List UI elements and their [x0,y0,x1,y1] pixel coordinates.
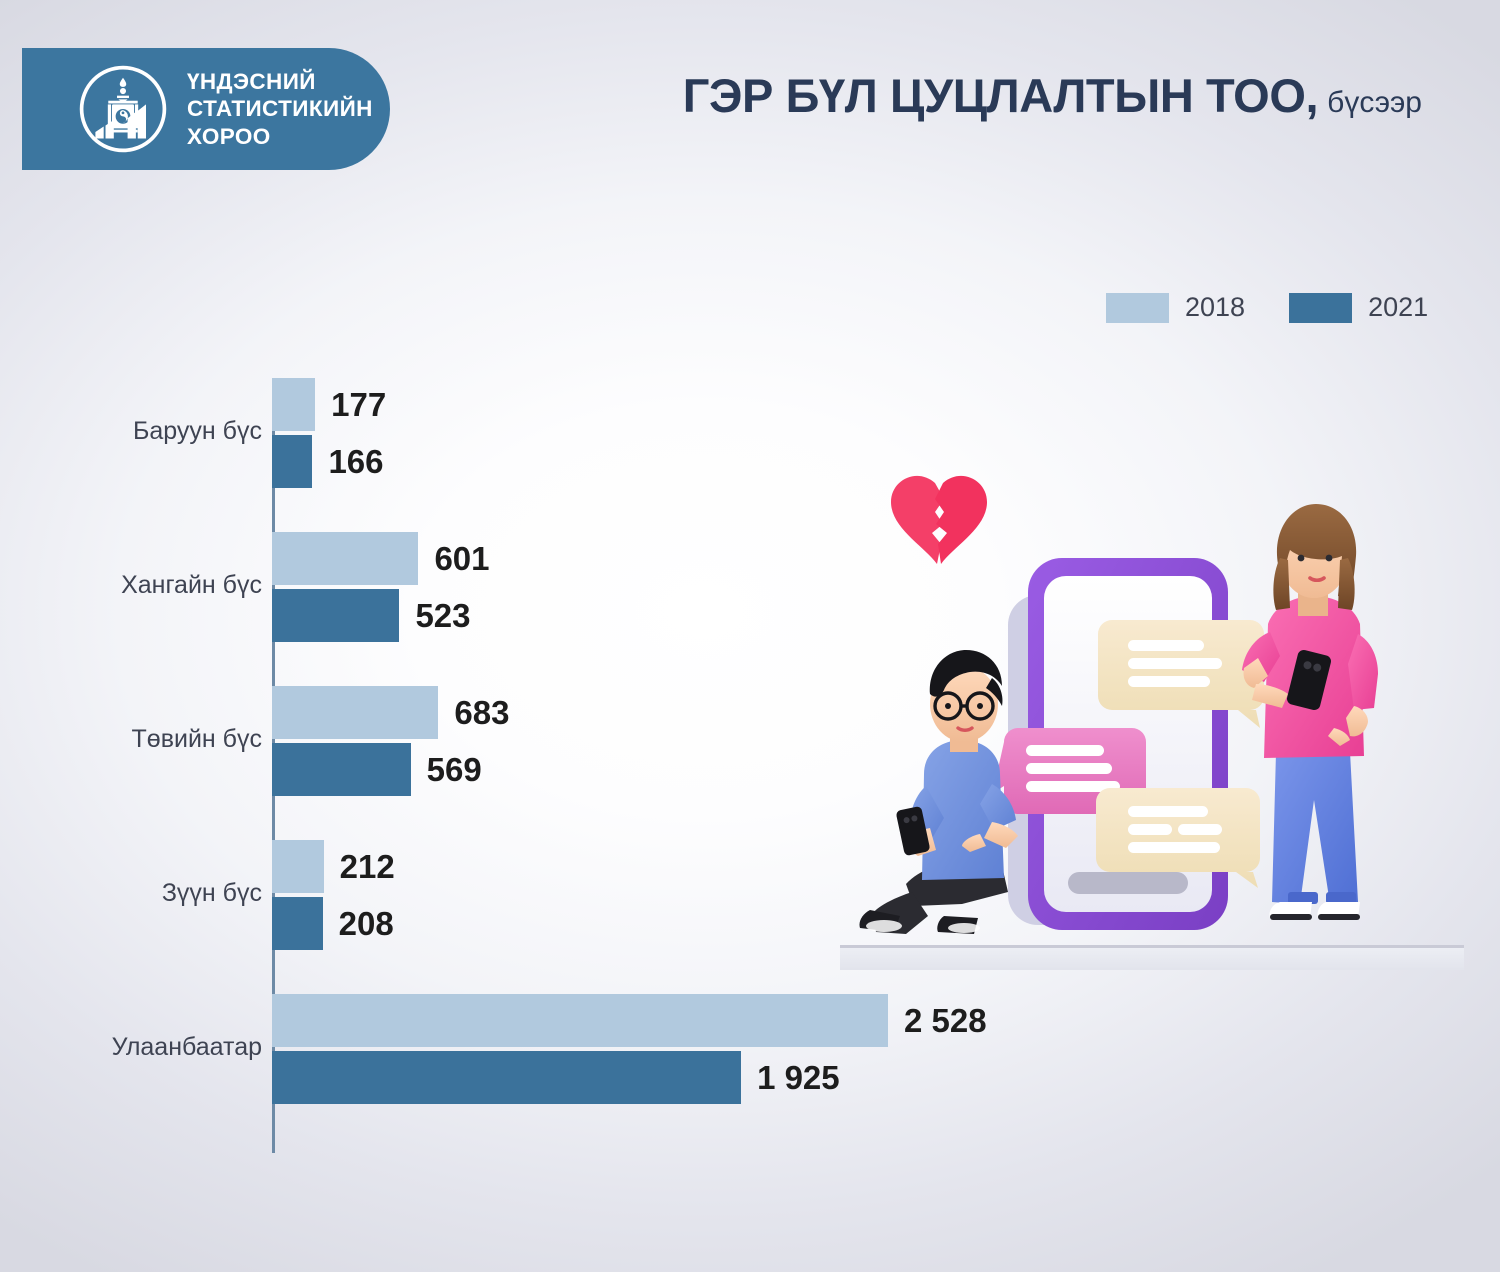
legend-item-2021[interactable]: 2021 [1289,292,1428,323]
chart-bar-row[interactable]: 208 [272,897,394,950]
chart-bar-value: 683 [454,694,509,732]
soyombo-bars-emblem-icon [77,63,169,155]
chart-bar-2021[interactable] [272,435,312,488]
chart-bar-value: 2 528 [904,1002,987,1040]
chart-bar-value: 166 [328,443,383,481]
chart-legend: 2018 2021 [1106,292,1428,323]
legend-swatch-2021 [1289,293,1352,323]
chart-bar-2021[interactable] [272,743,411,796]
chart-bar-2018[interactable] [272,532,418,585]
title-subtitle-text: бүсээр [1327,86,1422,120]
chart-bar-value: 212 [340,848,395,886]
chart-bar-value: 601 [434,540,489,578]
chart-category-group: Улаанбаатар2 5281 925 [0,994,1000,1104]
chart-bar-2018[interactable] [272,994,888,1047]
chart-category-label: Улаанбаатар [112,1033,262,1062]
chart-bar-row[interactable]: 1 925 [272,1051,840,1104]
chart-bar-2018[interactable] [272,840,324,893]
chart-bar-value: 177 [331,386,386,424]
chart-category-label: Зүүн бүс [162,879,262,908]
chart-bar-2018[interactable] [272,378,315,431]
chart-bar-row[interactable]: 2 528 [272,994,987,1047]
logo-text-block: ҮНДЭСНИЙ СТАТИСТИКИЙН ХОРОО [187,68,373,150]
chart-bar-value: 523 [415,597,470,635]
legend-item-2018[interactable]: 2018 [1106,292,1245,323]
legend-label-2018: 2018 [1185,292,1245,323]
organization-logo-banner: ҮНДЭСНИЙ СТАТИСТИКИЙН ХОРОО [22,48,390,170]
chart-bar-row[interactable]: 601 [272,532,490,585]
chart-bar-row[interactable]: 177 [272,378,386,431]
page-title: ГЭР БҮЛ ЦУЦЛАЛТЫН ТОО, бүсээр [683,68,1422,123]
standing-woman-figure [1242,504,1378,920]
chart-bar-value: 569 [427,751,482,789]
chart-bar-row[interactable]: 166 [272,435,384,488]
chart-bar-row[interactable]: 523 [272,589,471,642]
couple-texting-broken-heart-illustration [840,440,1480,970]
chart-bar-2021[interactable] [272,897,323,950]
chart-bar-value: 208 [339,905,394,943]
logo-line-3: ХОРОО [187,123,373,150]
chart-category-label: Хангайн бүс [121,571,262,600]
chart-bar-row[interactable]: 569 [272,743,482,796]
chart-bar-row[interactable]: 683 [272,686,509,739]
chart-bar-2021[interactable] [272,1051,741,1104]
chart-bar-2018[interactable] [272,686,438,739]
legend-swatch-2018 [1106,293,1169,323]
chart-category-label: Баруун бүс [133,417,262,446]
chart-bar-value: 1 925 [757,1059,840,1097]
chart-category-label: Төвийн бүс [132,725,262,754]
logo-line-1: ҮНДЭСНИЙ [187,68,373,95]
chart-bar-row[interactable]: 212 [272,840,395,893]
chart-bar-2021[interactable] [272,589,399,642]
illustration-canvas [840,440,1480,970]
broken-heart-icon [891,476,987,564]
logo-line-2: СТАТИСТИКИЙН [187,95,373,122]
legend-label-2021: 2021 [1368,292,1428,323]
title-main-text: ГЭР БҮЛ ЦУЦЛАЛТЫН ТОО, [683,68,1318,123]
seated-man-figure [859,650,1018,934]
